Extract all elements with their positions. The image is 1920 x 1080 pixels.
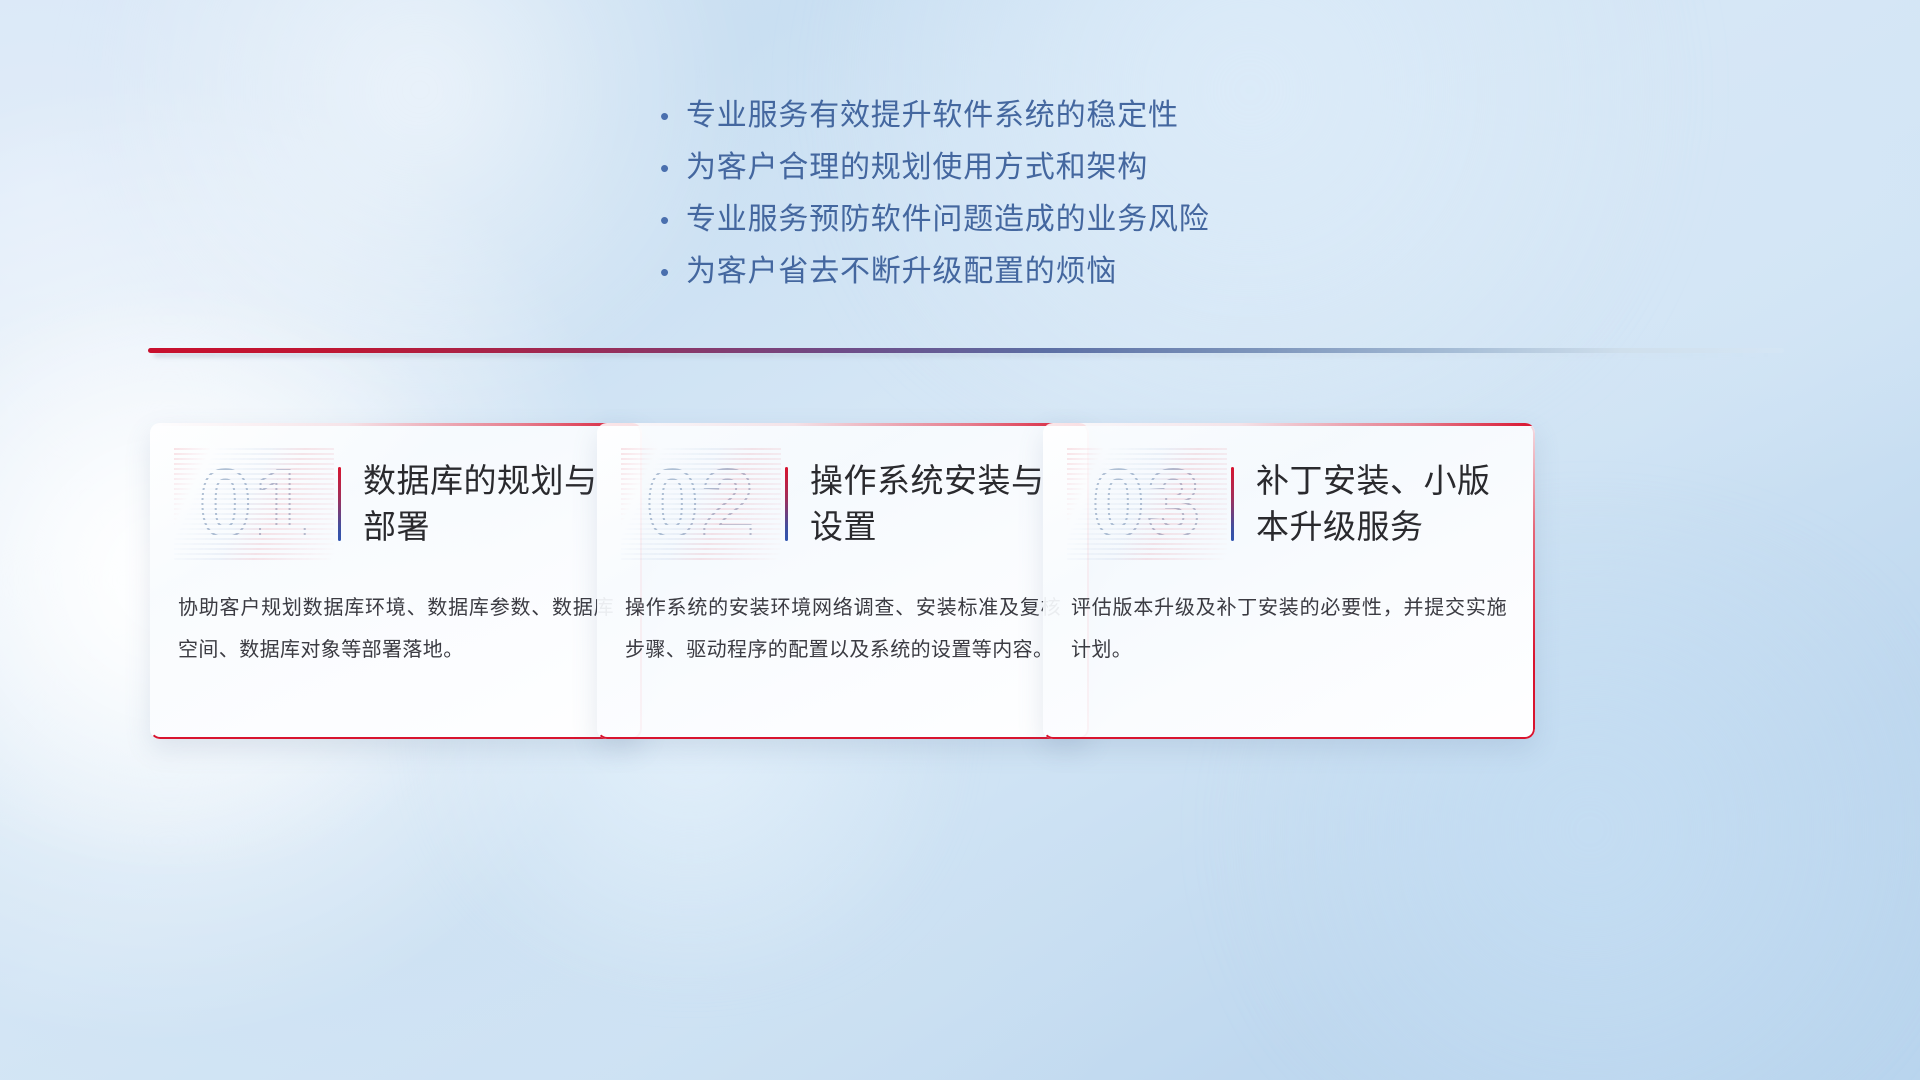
bullet-text: 专业服务有效提升软件系统的稳定性 <box>686 96 1179 136</box>
card-divider-line <box>338 467 341 541</box>
service-card-01[interactable]: 01 数据库的规划与部署 协助客户规划数据库环境、数据库参数、数据库空间、数据库… <box>150 423 642 739</box>
service-cards: 01 数据库的规划与部署 协助客户规划数据库环境、数据库参数、数据库空间、数据库… <box>150 423 1770 741</box>
card-divider-line <box>785 467 788 541</box>
benefits-bullet-list: • 专业服务有效提升软件系统的稳定性 • 为客户合理的规划使用方式和架构 • 专… <box>660 96 1560 304</box>
bullet-text: 为客户省去不断升级配置的烦恼 <box>686 252 1117 292</box>
slide-canvas: • 专业服务有效提升软件系统的稳定性 • 为客户合理的规划使用方式和架构 • 专… <box>0 0 1920 1080</box>
card-divider-line <box>1231 467 1234 541</box>
list-item: • 专业服务有效提升软件系统的稳定性 <box>660 96 1560 148</box>
service-card-02[interactable]: 02 操作系统安装与设置 操作系统的安装环境网络调查、安装标准及复核步骤、驱动程… <box>597 423 1089 739</box>
bullet-dot-icon: • <box>660 148 686 188</box>
card-header: 01 数据库的规划与部署 <box>150 441 642 567</box>
card-number: 03 <box>1067 448 1227 560</box>
bullet-dot-icon: • <box>660 200 686 240</box>
card-description: 操作系统的安装环境网络调查、安装标准及复核步骤、驱动程序的配置以及系统的设置等内… <box>625 587 1061 671</box>
card-accent-top-edge <box>150 423 642 426</box>
list-item: • 为客户省去不断升级配置的烦恼 <box>660 252 1560 304</box>
card-accent-top-edge <box>597 423 1089 426</box>
card-description: 协助客户规划数据库环境、数据库参数、数据库空间、数据库对象等部署落地。 <box>178 587 614 671</box>
card-title: 补丁安装、小版本升级服务 <box>1256 458 1535 550</box>
list-item: • 为客户合理的规划使用方式和架构 <box>660 148 1560 200</box>
bullet-dot-icon: • <box>660 96 686 136</box>
service-card-03[interactable]: 03 补丁安装、小版本升级服务 评估版本升级及补丁安装的必要性，并提交实施计划。 <box>1043 423 1535 739</box>
bullet-text: 为客户合理的规划使用方式和架构 <box>686 148 1148 188</box>
card-number: 02 <box>621 448 781 560</box>
bullet-dot-icon: • <box>660 252 686 292</box>
card-header: 03 补丁安装、小版本升级服务 <box>1043 441 1535 567</box>
card-description: 评估版本升级及补丁安装的必要性，并提交实施计划。 <box>1071 587 1507 671</box>
card-accent-top-edge <box>1043 423 1535 426</box>
card-header: 02 操作系统安装与设置 <box>597 441 1089 567</box>
section-divider <box>148 348 1784 357</box>
divider-shadow <box>154 353 1774 357</box>
bullet-text: 专业服务预防软件问题造成的业务风险 <box>686 200 1210 240</box>
card-number: 01 <box>174 448 334 560</box>
list-item: • 专业服务预防软件问题造成的业务风险 <box>660 200 1560 252</box>
divider-bar <box>148 348 1784 353</box>
